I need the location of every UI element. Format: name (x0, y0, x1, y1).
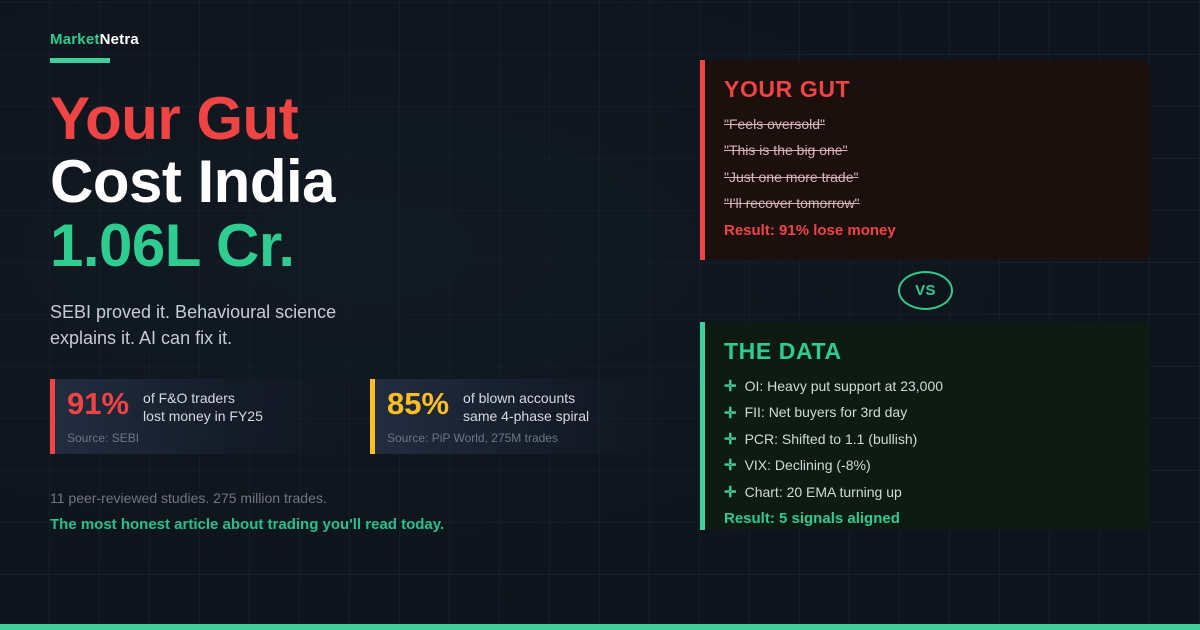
brand-name-secondary: Netra (100, 31, 139, 48)
panel-accent-bar (700, 60, 705, 260)
list-item-label: PCR: Shifted to 1.1 (bullish) (745, 432, 918, 447)
list-item: "Just one more trade" (724, 170, 1150, 185)
list-item: ✛ PCR: Shifted to 1.1 (bullish) (724, 432, 1150, 447)
stat-accent-bar (50, 379, 55, 454)
headline-line-1: Your Gut (50, 88, 680, 150)
brand-underline-rule (50, 58, 110, 63)
stat-source: Source: PiP World, 275M trades (387, 431, 670, 445)
stat-description-line-2: lost money in FY25 (143, 408, 263, 426)
left-content-column: MarketNetra Your Gut Cost India 1.06L Cr… (50, 32, 680, 536)
list-item: ✛ FII: Net buyers for 3rd day (724, 405, 1150, 420)
list-item: ✛ OI: Heavy put support at 23,000 (724, 379, 1150, 394)
panel-accent-bar (700, 322, 705, 530)
list-item-label: FII: Net buyers for 3rd day (745, 405, 908, 420)
list-item: "Feels oversold" (724, 117, 1150, 132)
subheadline-text: SEBI proved it. Behavioural science expl… (50, 299, 400, 351)
footer-text-block: 11 peer-reviewed studies. 275 million tr… (50, 488, 680, 536)
stat-source: Source: SEBI (67, 431, 350, 445)
list-item-label: VIX: Declining (-8%) (745, 458, 871, 473)
stat-value: 91% (67, 388, 129, 419)
stat-cards-row: 91% of F&O traders lost money in FY25 So… (50, 379, 680, 454)
sparkle-icon: ✛ (724, 432, 737, 447)
stat-accent-bar (370, 379, 375, 454)
bottom-accent-bar (0, 624, 1200, 630)
footer-line-2: The most honest article about trading yo… (50, 513, 680, 536)
stat-card-sebi: 91% of F&O traders lost money in FY25 So… (50, 379, 350, 454)
headline-line-3: 1.06L Cr. (50, 215, 680, 277)
your-gut-panel: YOUR GUT "Feels oversold" "This is the b… (700, 60, 1150, 260)
stat-description: of blown accounts same 4-phase spiral (463, 388, 589, 426)
sparkle-icon: ✛ (724, 379, 737, 394)
list-item: "I'll recover tomorrow" (724, 196, 1150, 211)
footer-line-1: 11 peer-reviewed studies. 275 million tr… (50, 488, 680, 510)
vs-badge: VS (898, 271, 953, 310)
list-item-label: OI: Heavy put support at 23,000 (745, 379, 943, 394)
list-item: ✛ Chart: 20 EMA turning up (724, 485, 1150, 500)
brand-logo: MarketNetra (50, 32, 680, 49)
headline-line-2: Cost India (50, 151, 680, 213)
list-item: "This is the big one" (724, 143, 1150, 158)
your-gut-result: Result: 91% lose money (724, 223, 1150, 240)
sparkle-icon: ✛ (724, 458, 737, 473)
your-gut-item-list: "Feels oversold" "This is the big one" "… (724, 117, 1150, 212)
stat-description-line-1: of F&O traders (143, 390, 263, 408)
stat-card-body: 85% of blown accounts same 4-phase spira… (387, 388, 670, 426)
sparkle-icon: ✛ (724, 485, 737, 500)
stat-description: of F&O traders lost money in FY25 (143, 388, 263, 426)
stat-card-pipworld: 85% of blown accounts same 4-phase spira… (370, 379, 670, 454)
stat-description-line-2: same 4-phase spiral (463, 408, 589, 426)
stat-card-body: 91% of F&O traders lost money in FY25 (67, 388, 350, 426)
stat-description-line-1: of blown accounts (463, 390, 589, 408)
the-data-result: Result: 5 signals aligned (724, 511, 1150, 528)
your-gut-panel-title: YOUR GUT (724, 78, 1150, 101)
the-data-item-list: ✛ OI: Heavy put support at 23,000 ✛ FII:… (724, 379, 1150, 500)
sparkle-icon: ✛ (724, 406, 737, 421)
page-title: Your Gut Cost India 1.06L Cr. (50, 88, 680, 277)
poster-canvas: MarketNetra Your Gut Cost India 1.06L Cr… (0, 0, 1200, 630)
list-item-label: Chart: 20 EMA turning up (745, 485, 902, 500)
stat-value: 85% (387, 388, 449, 419)
list-item: ✛ VIX: Declining (-8%) (724, 458, 1150, 473)
brand-name-primary: Market (50, 31, 100, 48)
the-data-panel: THE DATA ✛ OI: Heavy put support at 23,0… (700, 322, 1150, 530)
the-data-panel-title: THE DATA (724, 340, 1150, 363)
